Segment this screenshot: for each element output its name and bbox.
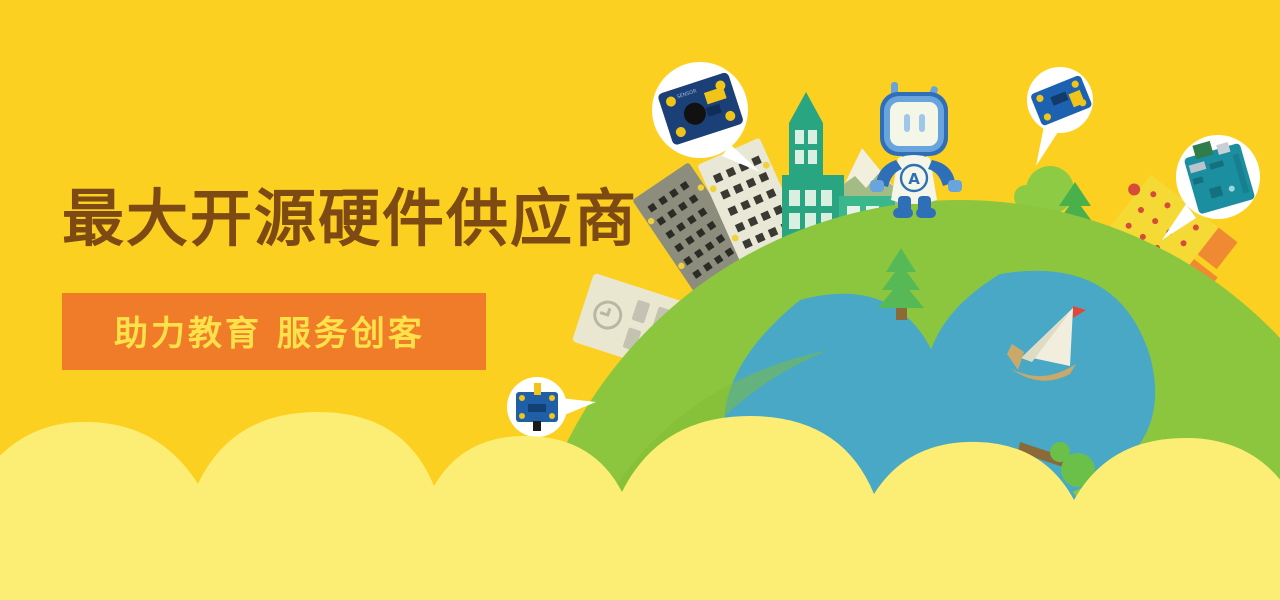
tagline-badge: 助力教育 服务创客 [62, 293, 486, 370]
robot-eye-left [904, 114, 910, 132]
copy-block: 最大开源硬件供应商 助力教育 服务创客 [62, 186, 622, 370]
tagline-badge-label: 助力教育 服务创客 [114, 314, 425, 354]
page-title: 最大开源硬件供应商 [62, 186, 622, 253]
robot-face-screen [890, 102, 938, 146]
robot-logo-letter: A [908, 170, 920, 188]
promo-banner: A SENSOR [0, 0, 1280, 600]
robot-eye-right [919, 114, 925, 132]
